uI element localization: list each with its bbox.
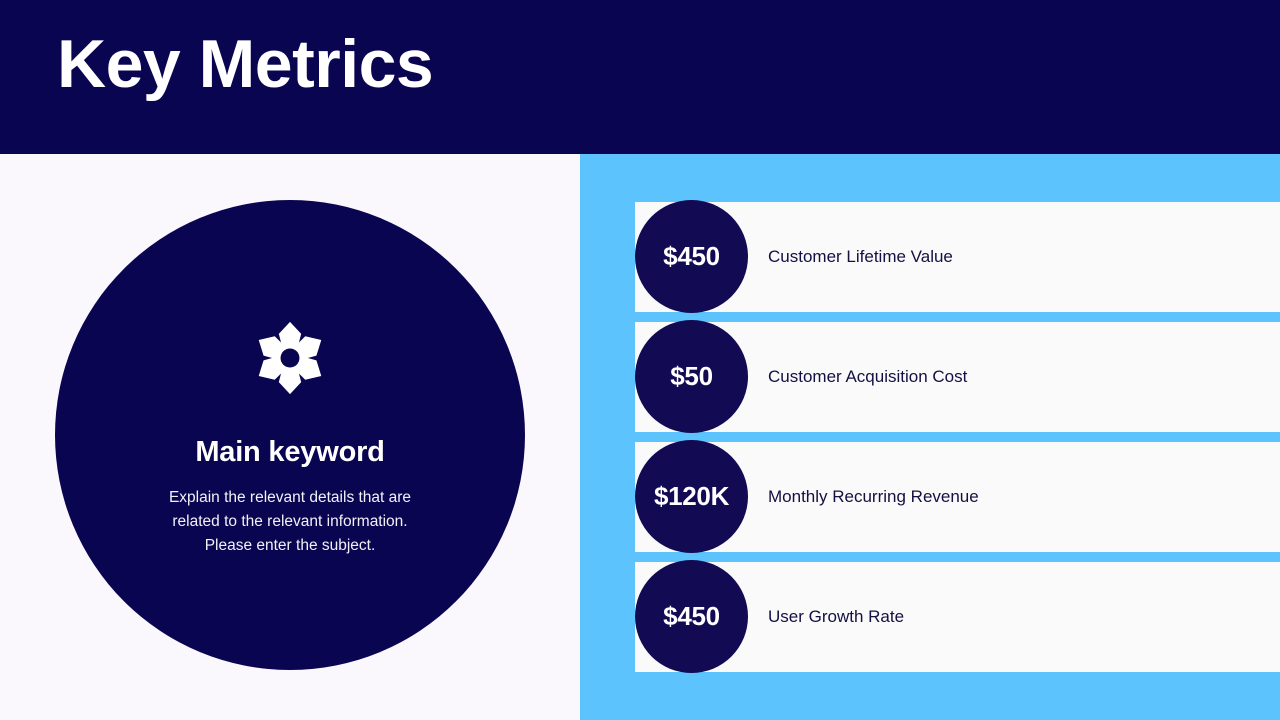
brand-heading: Main keyword [195,437,384,469]
metric-row[interactable]: $450 User Growth Rate [580,562,1280,672]
brand-body-line: Please enter the subject. [140,534,440,558]
metric-row[interactable]: $450 Customer Lifetime Value [580,202,1280,312]
metric-value-circle: $50 [635,320,748,433]
metric-row[interactable]: $50 Customer Acquisition Cost [580,322,1280,432]
slide-key-metrics: Key Metrics [0,0,1280,720]
brand-circle: Main keyword Explain the relevant detail… [55,200,525,670]
left-panel: Main keyword Explain the relevant detail… [0,154,580,720]
metric-label: User Growth Rate [768,562,904,672]
six-point-pinwheel-star-icon [247,315,333,401]
right-panel: $450 Customer Lifetime Value $50 Custome… [580,154,1280,720]
metric-value: $450 [663,241,720,272]
brand-body-line: related to the relevant information. [140,510,440,534]
metrics-list: $450 Customer Lifetime Value $50 Custome… [580,154,1280,720]
metric-value: $50 [670,361,712,392]
header-band: Key Metrics [0,0,1280,154]
page-title: Key Metrics [57,30,433,98]
brand-body-line: Explain the relevant details that are [140,486,440,510]
metric-label: Monthly Recurring Revenue [768,442,979,552]
metric-value-circle: $120K [635,440,748,553]
metric-value-circle: $450 [635,560,748,673]
metric-value-circle: $450 [635,200,748,313]
metric-row[interactable]: $120K Monthly Recurring Revenue [580,442,1280,552]
metric-label: Customer Acquisition Cost [768,322,967,432]
metric-label: Customer Lifetime Value [768,202,953,312]
brand-body: Explain the relevant details that are re… [140,486,440,558]
metric-value: $450 [663,601,720,632]
metric-value: $120K [654,481,729,512]
